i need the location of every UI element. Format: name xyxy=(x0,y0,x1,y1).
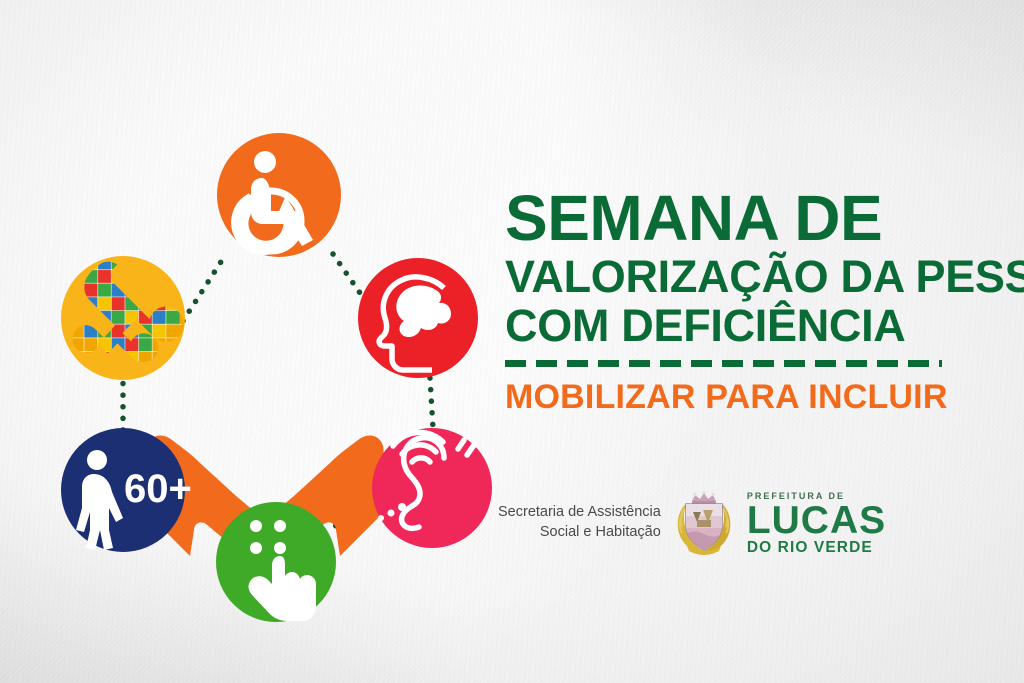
ear-hearing-icon xyxy=(372,428,492,548)
elderly-60plus-label: 60+ xyxy=(124,467,192,511)
autism-puzzle-ribbon-icon xyxy=(58,256,201,380)
secretaria-line-2: Social e Habitação xyxy=(498,523,661,543)
secretaria-label: Secretaria de Assistência Social e Habit… xyxy=(498,503,661,542)
headline-line-1: SEMANA DE xyxy=(505,188,975,249)
headline-line-3: COM DEFICIÊNCIA xyxy=(505,302,975,350)
wheelchair-icon xyxy=(217,133,341,257)
footer-logos: Secretaria de Assistência Social e Habit… xyxy=(498,488,968,558)
brain-head-icon xyxy=(358,258,478,378)
dashed-divider xyxy=(505,360,942,367)
secretaria-line-1: Secretaria de Assistência xyxy=(498,503,661,523)
prefeitura-name: LUCAS xyxy=(747,503,886,539)
tagline: MOBILIZAR PARA INCLUIR xyxy=(505,378,975,417)
poster-canvas: 60+ xyxy=(0,0,1024,683)
headline-block: SEMANA DE VALORIZAÇÃO DA PESSOA COM DEFI… xyxy=(505,188,975,417)
coat-of-arms-icon xyxy=(673,490,735,556)
prefeitura-logo: PREFEITURA DE LUCAS DO RIO VERDE xyxy=(747,490,886,555)
braille-hand-icon xyxy=(216,502,336,622)
prefeitura-subtitle: DO RIO VERDE xyxy=(747,540,886,556)
headline-line-2: VALORIZAÇÃO DA PESSOA xyxy=(505,253,975,301)
inclusion-icon-ring: 60+ xyxy=(40,78,490,608)
